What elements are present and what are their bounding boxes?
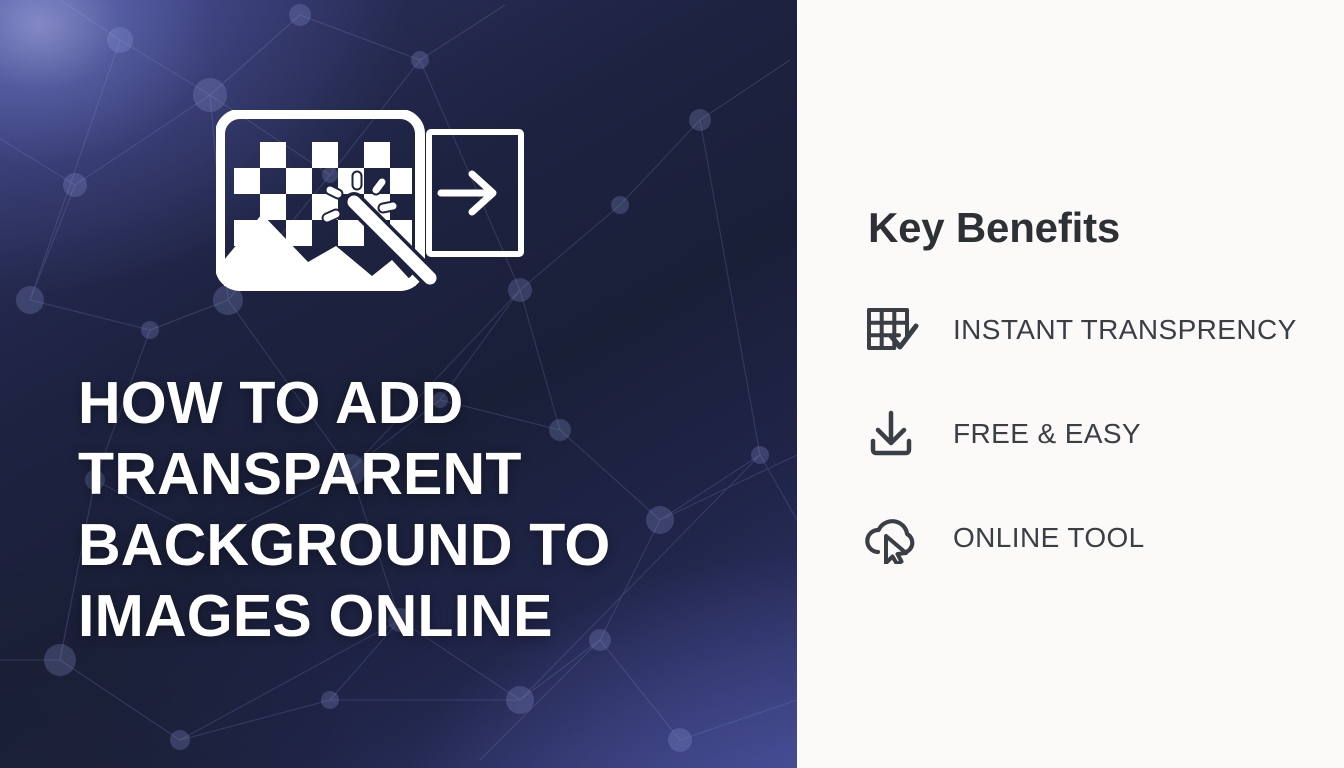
export-square-frame [429,132,521,254]
cloud-cursor-icon [863,510,929,566]
benefits-list: Instant Transprency Free & Easy [863,296,1334,608]
slide-canvas: How to Add Transparent Background to Ima… [0,0,1344,768]
benefit-label: Free & Easy [953,418,1141,450]
list-item[interactable]: Free & Easy [863,400,1334,468]
benefit-label: Online Tool [953,522,1145,554]
list-item[interactable]: Instant Transprency [863,296,1334,364]
list-item[interactable]: Online Tool [863,504,1334,572]
key-benefits-heading: Key Benefits [868,204,1120,252]
key-benefits-panel: Key Benefits [797,0,1344,768]
right-arrow-icon [441,174,493,212]
grid-check-icon [863,302,929,358]
corner-glow [0,0,220,170]
photo-frame-icon [220,114,420,286]
benefit-label: Instant Transprency [953,314,1297,346]
hero-panel: How to Add Transparent Background to Ima… [0,0,797,768]
transparent-background-illustration [216,110,536,310]
download-icon [863,406,929,462]
page-title: How to Add Transparent Background to Ima… [78,368,738,652]
